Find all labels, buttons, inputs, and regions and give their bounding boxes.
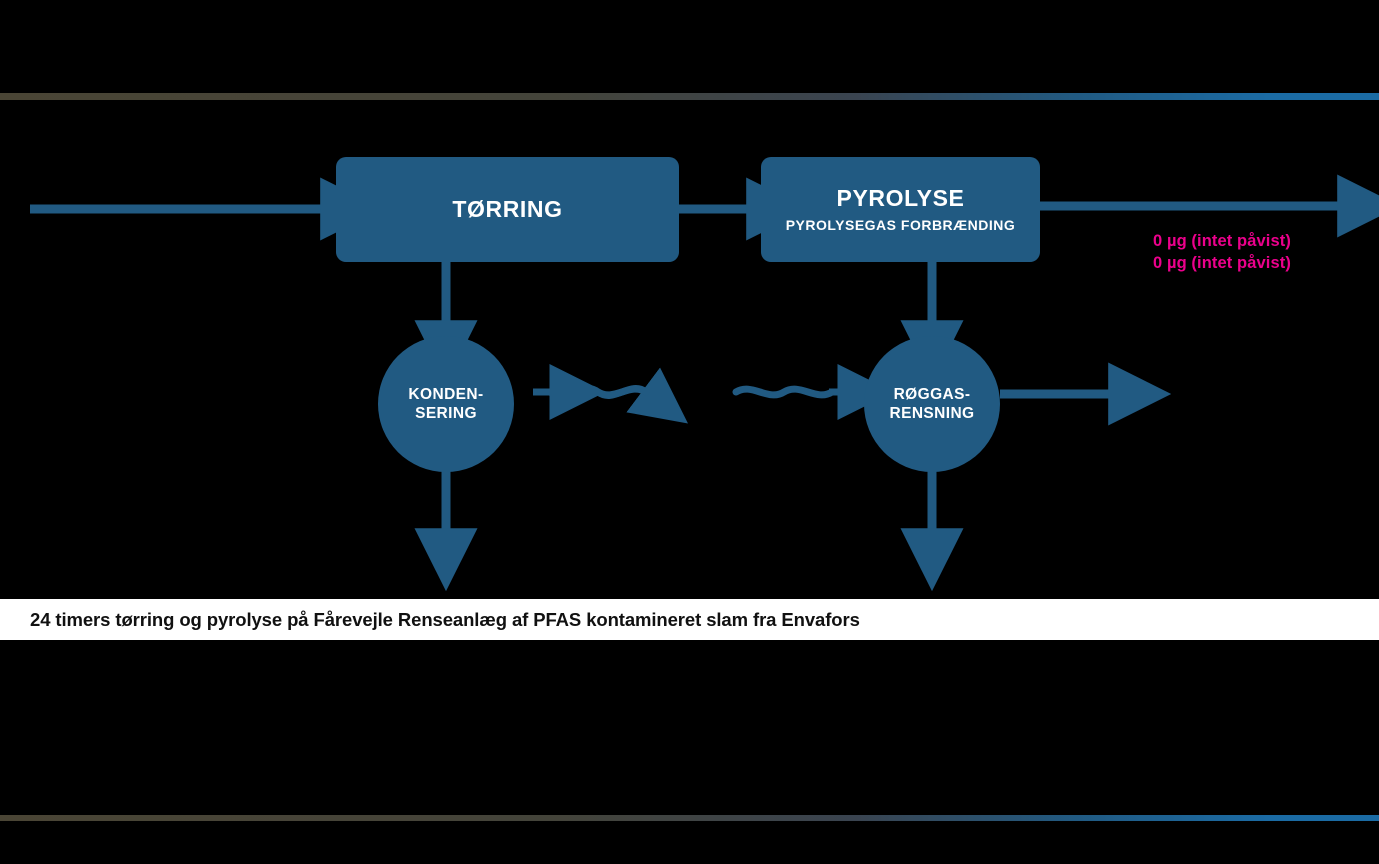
bottom-accent-rule: [0, 815, 1379, 821]
kondensering-label-line2: SERING: [415, 405, 477, 422]
process-circle-roggasrensning[interactable]: RØGGAS- RENSNING: [864, 336, 1000, 472]
wavy-arrow-right-icon: [736, 389, 841, 395]
process-circle-kondensering[interactable]: KONDEN- SERING: [378, 336, 514, 472]
process-box-pyrolyse-title: PYROLYSE: [837, 186, 965, 211]
process-box-pyrolyse-subtitle: PYROLYSEGAS FORBRÆNDING: [786, 217, 1016, 233]
process-box-torring[interactable]: TØRRING: [336, 157, 679, 262]
caption-text: 24 timers tørring og pyrolyse på Fårevej…: [30, 609, 860, 631]
caption-bar: 24 timers tørring og pyrolyse på Fårevej…: [0, 599, 1379, 640]
slide-root: TØRRING PYROLYSE PYROLYSEGAS FORBRÆNDING…: [0, 0, 1379, 864]
roggasrensning-label-line1: RØGGAS-: [894, 386, 971, 403]
process-circle-kondensering-label: KONDEN- SERING: [408, 385, 483, 424]
roggasrensning-label-line2: RENSNING: [889, 405, 974, 422]
flow-connectors: [0, 0, 1379, 864]
kondensering-label-line1: KONDEN-: [408, 386, 483, 403]
process-box-torring-title: TØRRING: [452, 197, 562, 222]
emission-readout-line2: 0 µg (intet påvist): [1153, 252, 1291, 274]
top-accent-rule: [0, 93, 1379, 100]
process-box-pyrolyse[interactable]: PYROLYSE PYROLYSEGAS FORBRÆNDING: [761, 157, 1040, 262]
process-circle-roggasrensning-label: RØGGAS- RENSNING: [889, 385, 974, 424]
emission-readout-line1: 0 µg (intet påvist): [1153, 230, 1291, 252]
wavy-arrow-left-icon: [533, 389, 646, 396]
emission-readout: 0 µg (intet påvist) 0 µg (intet påvist): [1153, 230, 1291, 275]
